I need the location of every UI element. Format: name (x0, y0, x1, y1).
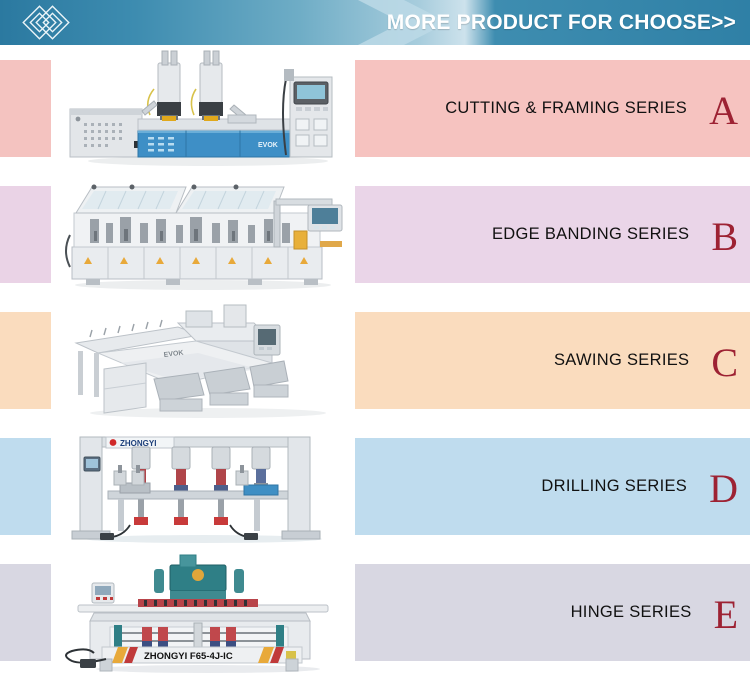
series-label-panel[interactable]: HINGE SERIES E (355, 564, 750, 661)
series-label-panel[interactable]: DRILLING SERIES D (355, 438, 750, 535)
list-item[interactable]: ZHONGYI F65-4J-IC HINGE SERIES E (0, 549, 750, 678)
row-color-swatch (0, 186, 51, 283)
row-color-swatch (0, 564, 51, 661)
double-diamond-logo-icon (22, 4, 82, 42)
edge-banding-machine-photo[interactable] (51, 171, 355, 297)
series-label: CUTTING & FRAMING SERIES (445, 99, 687, 118)
series-label-panel[interactable]: SAWING SERIES C (355, 312, 750, 409)
header-banner: MORE PRODUCT FOR CHOOSE>> (0, 0, 750, 45)
sawing-machine-photo[interactable]: EVOK (51, 297, 355, 423)
series-label: HINGE SERIES (571, 603, 692, 622)
series-label: SAWING SERIES (554, 351, 689, 370)
hinge-machine-photo[interactable]: ZHONGYI F65-4J-IC (51, 549, 355, 678)
svg-text:EVOK: EVOK (258, 142, 278, 149)
series-letter-badge: A (709, 91, 738, 131)
list-item[interactable]: EVOK (0, 45, 750, 171)
list-item[interactable]: EDGE BANDING SERIES B (0, 171, 750, 297)
series-label-panel[interactable]: CUTTING & FRAMING SERIES A (355, 60, 750, 157)
list-item[interactable]: EVOK SAWING SERIES C (0, 297, 750, 423)
series-label: DRILLING SERIES (541, 477, 687, 496)
drilling-machine-photo[interactable]: ZHONGYI (51, 423, 355, 549)
series-letter-badge: D (709, 469, 738, 509)
row-color-swatch (0, 438, 51, 535)
svg-text:ZHONGYI F65-4J-IC: ZHONGYI F65-4J-IC (144, 651, 233, 662)
series-letter-badge: B (711, 217, 738, 257)
banner-title: MORE PRODUCT FOR CHOOSE>> (387, 0, 736, 45)
series-letter-badge: C (711, 343, 738, 383)
series-letter-badge: E (714, 595, 738, 635)
row-color-swatch (0, 60, 51, 157)
list-item[interactable]: ZHONGYI (0, 423, 750, 549)
product-series-list: EVOK (0, 45, 750, 678)
cutting-framing-machine-photo[interactable]: EVOK (51, 45, 355, 171)
series-label-panel[interactable]: EDGE BANDING SERIES B (355, 186, 750, 283)
row-color-swatch (0, 312, 51, 409)
series-label: EDGE BANDING SERIES (492, 225, 689, 244)
